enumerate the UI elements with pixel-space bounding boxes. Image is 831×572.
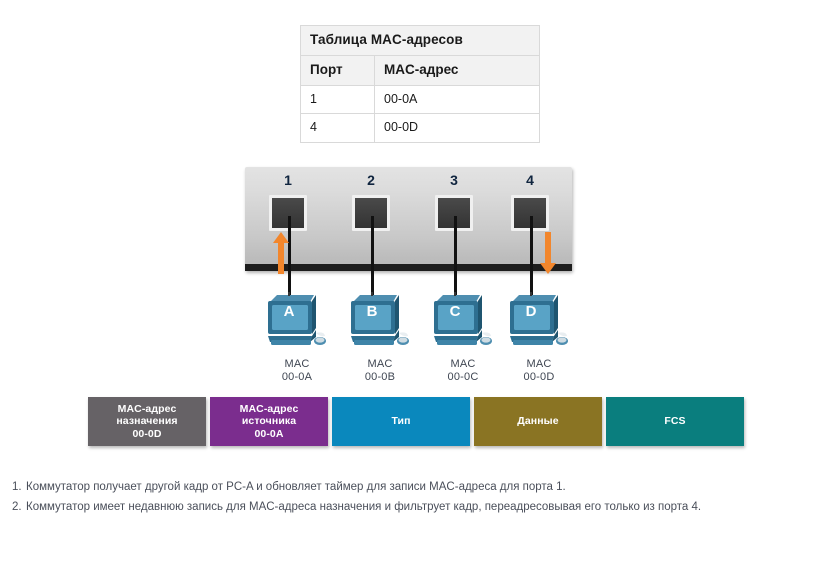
port-number-label: 2 [348,173,394,187]
port-number-label: 1 [265,173,311,187]
list-item: 2. Коммутатор имеет недавнюю запись для … [12,498,820,516]
frame-seg-0-line1: MAC-адрес [116,403,177,416]
arrow-shaft [545,232,551,264]
switch-bottom-band [245,264,572,271]
host-letter-label: D [508,303,554,320]
host-mac-label: MAC 00-0C [424,358,502,383]
host-mac-value: 00-0D [500,371,578,384]
mac-row-0-mac: 00-0A [375,85,540,114]
host-mac-label: MAC 00-0D [500,358,578,383]
computer-icon [508,292,570,348]
frame-seg-3-line1: Данные [517,415,558,428]
host-mac-value: 00-0C [424,371,502,384]
frame-seg-0-line2: назначения [116,415,177,428]
explanatory-notes: 1. Коммутатор получает другой кадр от PC… [12,478,820,518]
frame-seg-1-line1: MAC-адрес [240,403,299,416]
cable-port-2 [371,216,374,304]
host-mac-label: MAC 00-0A [258,358,336,383]
arrow-head-down-icon [540,263,556,274]
frame-seg-1-line3: 00-0A [240,428,299,441]
port-number-label: 4 [507,173,553,187]
mac-row-1-mac: 00-0D [375,114,540,143]
host-mac-value: 00-0A [258,371,336,384]
host-mac-label: MAC 00-0B [341,358,419,383]
note-text: Коммутатор получает другой кадр от PC-A … [26,478,820,496]
cable-port-3 [454,216,457,304]
frame-seg-2-line1: Тип [391,415,410,428]
network-switch: 1 2 3 4 [245,167,572,271]
frame-seg-4-line1: FCS [664,415,685,428]
host-mac-caption: MAC [500,358,578,371]
frame-segment-type: Тип [332,397,470,446]
mac-table-header-port: Порт [301,55,375,85]
host-letter-label: A [266,303,312,320]
mac-table-title: Таблица MAC-адресов [301,26,540,56]
host-mac-caption: MAC [424,358,502,371]
list-item: 1. Коммутатор получает другой кадр от PC… [12,478,820,496]
port-number-label: 3 [431,173,477,187]
host-pc-c: C MAC 00-0C [432,292,494,348]
frame-segment-source-mac: MAC-адрес источника 00-0A [210,397,328,446]
flow-arrow-ingress-port-1 [273,232,289,274]
arrow-shaft [278,242,284,274]
flow-arrow-egress-port-4 [540,232,556,274]
frame-seg-0-line3: 00-0D [116,428,177,441]
cable-port-4 [530,216,533,304]
computer-icon [349,292,411,348]
frame-segment-data: Данные [474,397,602,446]
note-number: 1. [12,478,26,496]
computer-icon [432,292,494,348]
host-letter-label: C [432,303,478,320]
table-row: 1 00-0A [301,85,540,114]
ethernet-frame-bar: MAC-адрес назначения 00-0D MAC-адрес ист… [88,397,744,446]
mac-table-title-row: Таблица MAC-адресов [301,26,540,56]
mac-row-0-port: 1 [301,85,375,114]
computer-icon [266,292,328,348]
mac-table-header-mac: MAC-адрес [375,55,540,85]
mac-address-table: Таблица MAC-адресов Порт MAC-адрес 1 00-… [300,25,540,143]
mac-table-header-row: Порт MAC-адрес [301,55,540,85]
frame-seg-1-line2: источника [240,415,299,428]
table-row: 4 00-0D [301,114,540,143]
note-number: 2. [12,498,26,516]
frame-segment-destination-mac: MAC-адрес назначения 00-0D [88,397,206,446]
host-pc-b: B MAC 00-0B [349,292,411,348]
host-pc-a: A MAC 00-0A [266,292,328,348]
host-letter-label: B [349,303,395,320]
host-mac-caption: MAC [258,358,336,371]
host-pc-d: D MAC 00-0D [508,292,570,348]
frame-segment-fcs: FCS [606,397,744,446]
host-mac-caption: MAC [341,358,419,371]
host-mac-value: 00-0B [341,371,419,384]
mac-row-1-port: 4 [301,114,375,143]
note-text: Коммутатор имеет недавнюю запись для MAC… [26,498,820,516]
